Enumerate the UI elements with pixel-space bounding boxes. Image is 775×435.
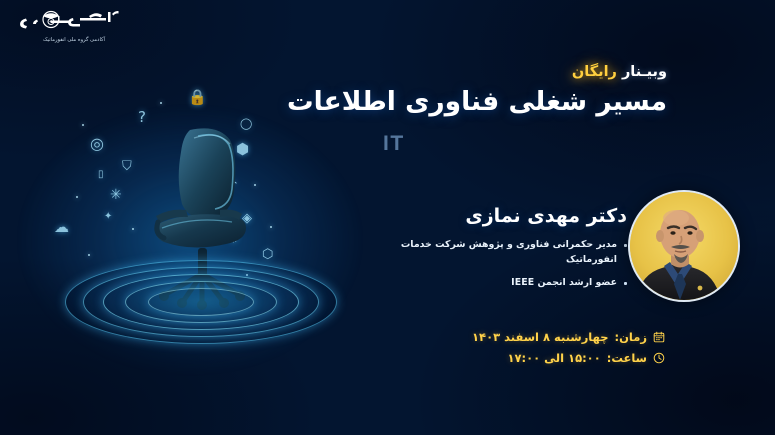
speaker-credentials: مدیر حکمرانی فناوری و پژوهش شرکت خدمات ا…	[362, 238, 627, 300]
snowflake-icon: ✳	[110, 188, 122, 202]
list-item: مدیر حکمرانی فناوری و پژوهش شرکت خدمات ا…	[362, 238, 627, 267]
speaker-avatar	[628, 190, 740, 302]
brand-tagline: آکادمی گروه ملی انفورماتیک	[14, 37, 134, 43]
speaker-name: دکتر مهدی نمازی	[465, 205, 627, 227]
question-mark-icon: ?	[138, 110, 146, 125]
event-date-label: زمان:	[615, 330, 647, 344]
document-icon: ▯	[98, 170, 104, 180]
star-icon: ✦	[104, 212, 112, 222]
event-date-value: چهارشنبه ۸ اسفند ۱۴۰۳	[472, 330, 608, 344]
event-date-row: زمان: چهارشنبه ۸ اسفند ۱۴۰۳	[472, 330, 665, 344]
cloud-icon: ☁	[54, 220, 69, 235]
webinar-poster: آکادمی گروه ملی انفورماتیک 🔒 ? ◎ ⛉ ☁ ⬢ ✳…	[0, 0, 775, 435]
calendar-icon	[653, 331, 665, 343]
event-time-row: ساعت: ۱۵:۰۰ الی ۱۷:۰۰	[472, 351, 665, 365]
page-title: مسیر شغلی فناوری اطلاعات	[287, 86, 667, 117]
graduation-cap-icon	[14, 6, 134, 36]
fingerprint-icon: ◎	[90, 136, 104, 152]
circuit-floor	[40, 302, 360, 374]
shield-icon: ⛉	[122, 160, 132, 173]
hero-kicker-highlight: رایگان	[572, 64, 617, 80]
event-time-value: ۱۵:۰۰ الی ۱۷:۰۰	[507, 351, 600, 365]
hero-kicker-plain: وبیـنار	[622, 64, 667, 80]
list-item: عضو ارشد انجمن IEEE	[362, 276, 627, 291]
brand-logo[interactable]: آکادمی گروه ملی انفورماتیک	[14, 6, 134, 50]
hero-illustration: 🔒 ? ◎ ⛉ ☁ ⬢ ✳ ▯ ☖ ◈ ⌁ ⬡ ⚙ ◯ ✦	[40, 88, 360, 368]
clock-icon	[653, 352, 665, 364]
page-subtitle: IT	[383, 132, 405, 156]
speaker-portrait	[628, 192, 738, 302]
event-time-label: ساعت:	[607, 351, 647, 365]
hero-kicker: وبیـنار رایگان	[572, 64, 667, 80]
event-meta: زمان: چهارشنبه ۸ اسفند ۱۴۰۳ ساعت: ۱۵:۰۰ …	[472, 330, 665, 372]
lock-icon: 🔒	[188, 90, 207, 105]
